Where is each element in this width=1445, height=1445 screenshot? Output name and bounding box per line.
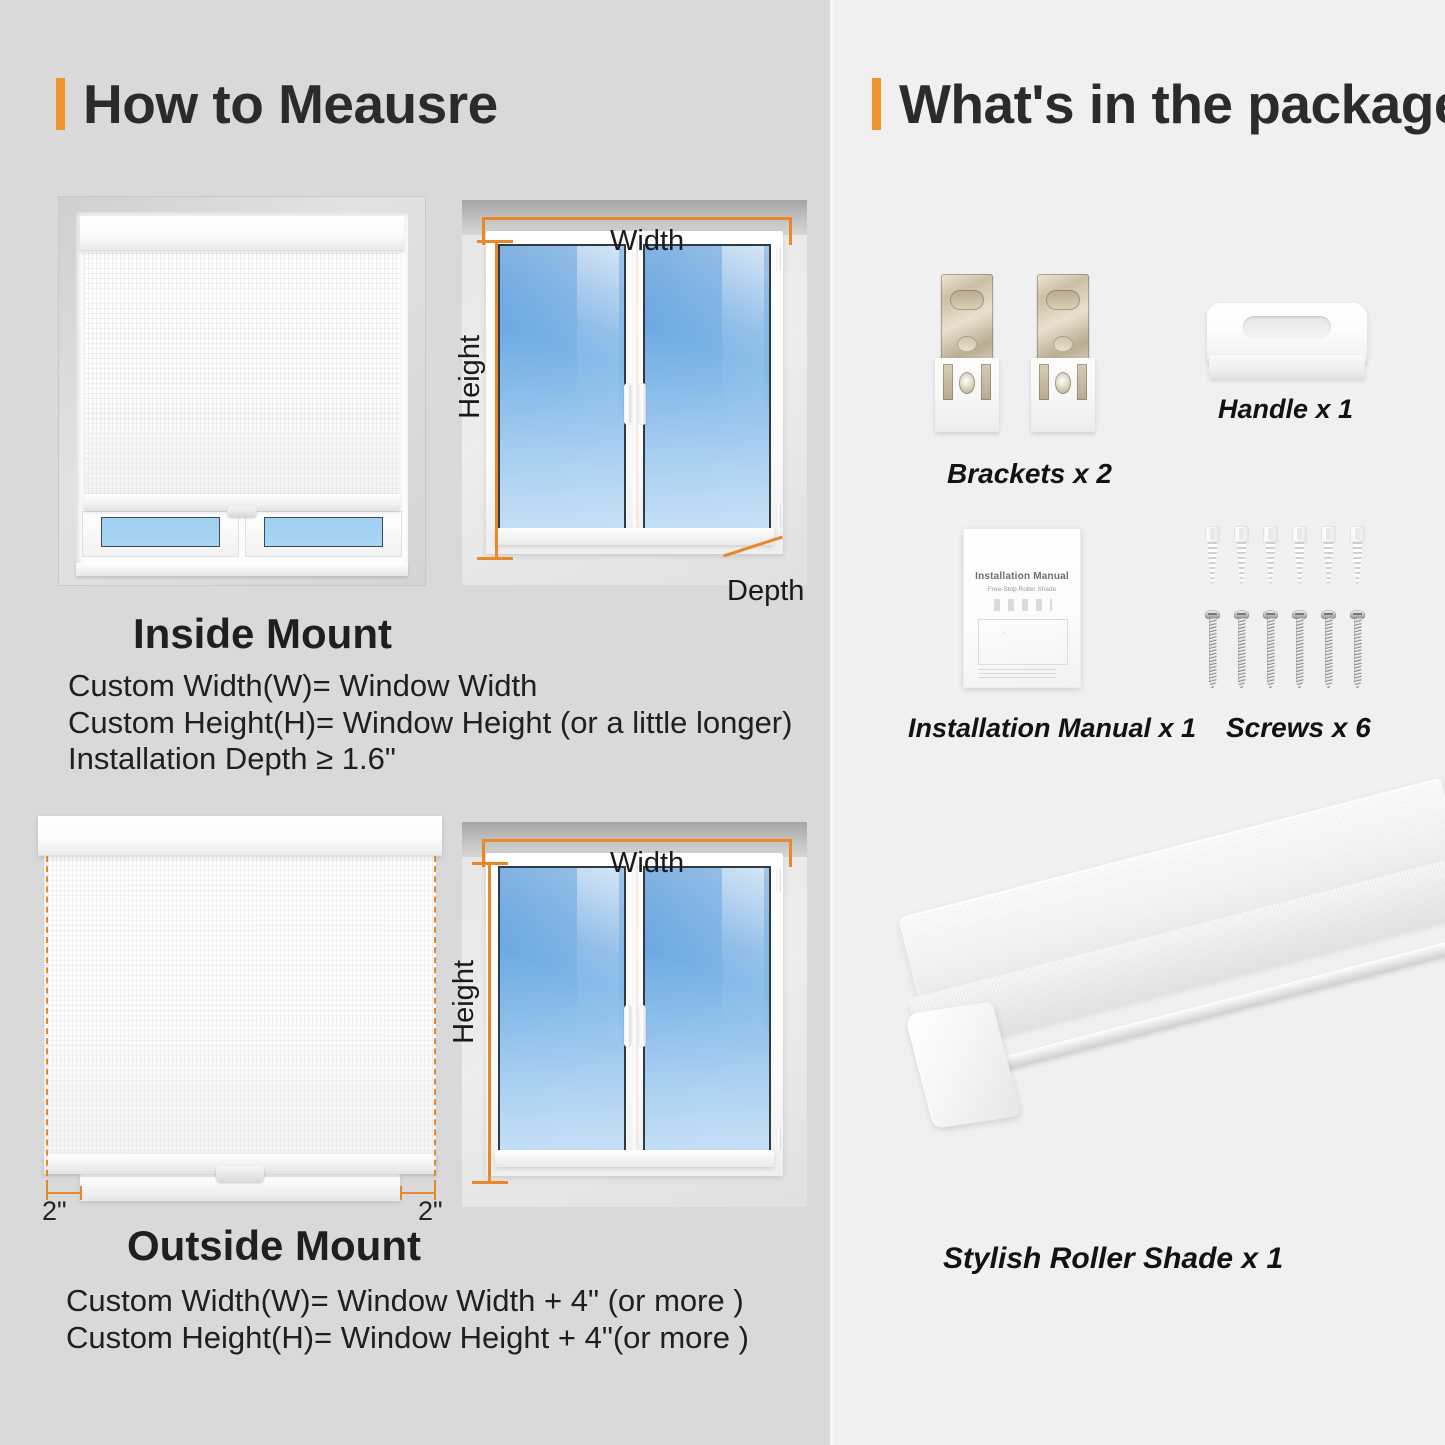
window-handle-left-icon: [624, 383, 631, 425]
width-label-2: Width: [610, 847, 684, 880]
window-pane-left: [498, 244, 626, 532]
bracket-icon: [935, 272, 1115, 444]
roller-shade-label: Stylish Roller Shade x 1: [943, 1242, 1283, 1276]
depth-label: Depth: [727, 575, 804, 608]
window-hinge-top-icon-2: [776, 869, 781, 893]
page-title: How to Meausre: [83, 72, 498, 136]
bracket-icon-2: [1031, 272, 1095, 432]
width-label: Width: [610, 225, 684, 258]
window-pane-right: [643, 244, 771, 532]
manual-cover: Installation Manual Free-Stop Roller Sha…: [963, 528, 1081, 688]
screws-label: Screws x 6: [1226, 712, 1371, 744]
height-measure-line: [495, 240, 498, 560]
handle-label: Handle x 1: [1218, 394, 1353, 425]
wall-anchor-icon-4: [1291, 526, 1308, 584]
overhang-label-right: 2": [418, 1196, 443, 1227]
product-infographic: How to Meausre: [0, 0, 1445, 1445]
how-to-measure-heading: How to Meausre: [56, 72, 498, 136]
outside-mount-shade-illustration: [30, 806, 450, 1206]
wall-anchor-icon-3: [1262, 526, 1279, 584]
wall-anchor-icon-1: [1204, 526, 1221, 584]
height-label: Height: [454, 335, 487, 419]
window-sill: [76, 563, 407, 577]
window-handle-right-icon: [639, 383, 646, 425]
window-glass-right: [264, 517, 382, 547]
brackets-label: Brackets x 2: [947, 458, 1112, 490]
manual-cover-footer: [978, 668, 1056, 678]
window-sill-ledge: [495, 528, 774, 544]
screw-icon-4: [1292, 610, 1307, 690]
outside-shade-fabric: [44, 856, 436, 1161]
outside-mount-instructions: Custom Width(W)= Window Width + 4" (or m…: [66, 1283, 749, 1356]
screw-icon: [1204, 526, 1374, 692]
window-sill-ledge-2: [495, 1150, 774, 1166]
window-body: [486, 231, 783, 554]
window-body-2: [486, 853, 783, 1176]
outside-shade-headrail: [38, 816, 442, 856]
screw-icon-5: [1321, 610, 1336, 690]
panel-divider: [830, 0, 834, 1445]
outside-mount-measure-diagram: Width Height: [462, 822, 807, 1207]
shade-fabric: [84, 249, 400, 495]
height-label-2: Height: [448, 960, 481, 1044]
package-heading: What's in the package: [872, 72, 1445, 136]
screw-icon-6: [1350, 610, 1365, 690]
shade-pull-tab-icon: [227, 506, 256, 517]
manual-label: Installation Manual x 1: [908, 713, 1196, 744]
handle-icon: [1207, 303, 1367, 385]
screw-icon-2: [1234, 610, 1249, 690]
inside-mount-line-1: Custom Width(W)= Window Width: [68, 668, 792, 705]
wall-anchor-icon-5: [1320, 526, 1337, 584]
height-measure-cap-bottom-2: [472, 1181, 508, 1184]
shade-headrail: [80, 216, 404, 251]
outside-mount-title: Outside Mount: [127, 1222, 421, 1270]
wall-anchor-icon-2: [1233, 526, 1250, 584]
wall-anchor-icon-6: [1349, 526, 1366, 584]
window-mullion: [632, 240, 639, 534]
package-contents-panel: What's in the package Brackets x 2 Handl…: [830, 0, 1445, 1445]
overhang-guide-left: [46, 856, 48, 1186]
roller-shade-icon: [885, 880, 1430, 1210]
package-title: What's in the package: [899, 72, 1445, 136]
manual-cover-subtitle: Free-Stop Roller Shade: [964, 586, 1080, 593]
inside-mount-line-2: Custom Height(H)= Window Height (or a li…: [68, 705, 792, 742]
inside-mount-line-3: Installation Depth ≥ 1.6": [68, 741, 792, 778]
window-mullion-2: [632, 862, 639, 1156]
window-glass-left: [101, 517, 219, 547]
width-measure-cap-right: [789, 217, 792, 245]
width-measure-line-2: [482, 839, 792, 842]
height-measure-cap-top: [477, 240, 513, 243]
outside-mount-line-2: Custom Height(H)= Window Height + 4"(or …: [66, 1320, 749, 1357]
window-hinge-bottom-icon: [776, 504, 781, 528]
window-hinge-top-icon: [776, 247, 781, 271]
overhang-label-left: 2": [42, 1196, 67, 1227]
width-measure-cap-right-2: [789, 839, 792, 867]
inside-mount-shade-illustration: [58, 196, 426, 586]
screw-icon-3: [1263, 610, 1278, 690]
manual-cover-title: Installation Manual: [964, 571, 1080, 582]
accent-bar-icon-2: [872, 78, 881, 130]
window-hinge-bottom-icon-2: [776, 1126, 781, 1150]
window-pane-left-2: [498, 866, 626, 1154]
manual-cover-figure: [978, 619, 1068, 665]
manual-cover-icons: [994, 599, 1052, 611]
bracket-icon-1: [935, 272, 999, 432]
window-handle-left-icon-2: [624, 1005, 631, 1047]
window-sash-area: [82, 510, 402, 569]
screw-icon-1: [1205, 610, 1220, 690]
handle-grip-slot: [1243, 316, 1331, 338]
outside-shade-pull-tab-icon: [216, 1166, 264, 1182]
width-measure-line: [482, 217, 792, 220]
handle-body: [1207, 303, 1367, 363]
height-measure-cap-bottom: [477, 557, 513, 560]
manual-icon: Installation Manual Free-Stop Roller Sha…: [963, 528, 1081, 688]
handle-lip: [1209, 355, 1365, 379]
inside-mount-measure-diagram: Width Height Depth: [462, 200, 807, 585]
window-handle-right-icon-2: [639, 1005, 646, 1047]
accent-bar-icon: [56, 78, 65, 130]
height-measure-line-2: [488, 862, 491, 1184]
window-pane-right-2: [643, 866, 771, 1154]
outside-mount-line-1: Custom Width(W)= Window Width + 4" (or m…: [66, 1283, 749, 1320]
overhang-guide-right: [434, 856, 436, 1186]
how-to-measure-panel: How to Meausre: [0, 0, 830, 1445]
inside-mount-instructions: Custom Width(W)= Window Width Custom Hei…: [68, 668, 792, 778]
inside-mount-title: Inside Mount: [133, 610, 392, 658]
height-measure-cap-top-2: [472, 862, 508, 865]
